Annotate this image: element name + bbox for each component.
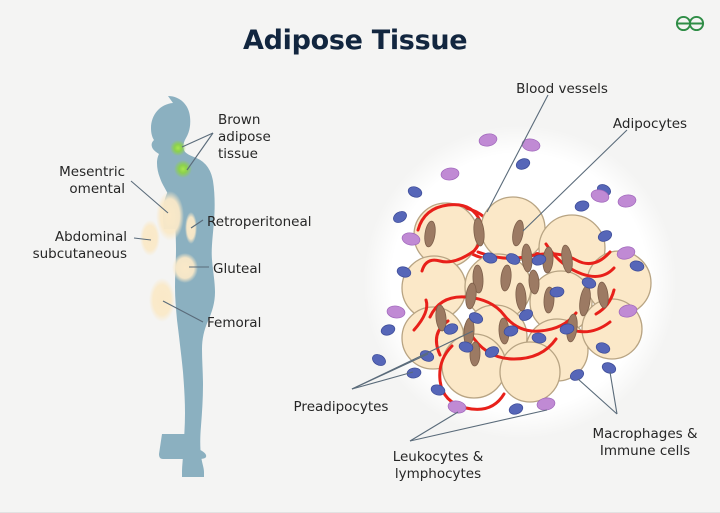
label-macrophages-immune-cells: Macrophages & Immune cells — [573, 426, 717, 460]
label-preadipocytes: Preadipocytes — [271, 399, 411, 416]
label-mesentric-omental: Mesentric omental — [0, 164, 125, 198]
label-blood-vessels: Blood vessels — [482, 81, 642, 98]
label-femoral: Femoral — [207, 315, 261, 332]
diagram-canvas: Adipose Tissue — [0, 0, 720, 513]
gluteal-deposit — [172, 253, 198, 283]
label-brown-adipose-tissue: Brown adipose tissue — [218, 112, 271, 163]
label-leukocytes-lymphocytes: Leukocytes & lymphocytes — [368, 449, 508, 483]
label-adipocytes: Adipocytes — [592, 116, 708, 133]
label-retroperitoneal: Retroperitoneal — [207, 214, 312, 231]
adipocyte-cell — [500, 342, 560, 402]
bat-collarbone-spot — [174, 160, 192, 178]
mesentric-omental-deposit — [156, 191, 184, 241]
femoral-deposit — [149, 278, 175, 322]
leukocytes-leader-1 — [410, 412, 458, 441]
adipocyte-cell — [481, 197, 545, 261]
bat-neck-spot — [170, 140, 186, 156]
label-gluteal: Gluteal — [213, 261, 261, 278]
label-abdominal-subcutaneous: Abdominal subcutaneous — [0, 229, 127, 263]
abdominal-subcutaneous-deposit — [140, 220, 160, 256]
